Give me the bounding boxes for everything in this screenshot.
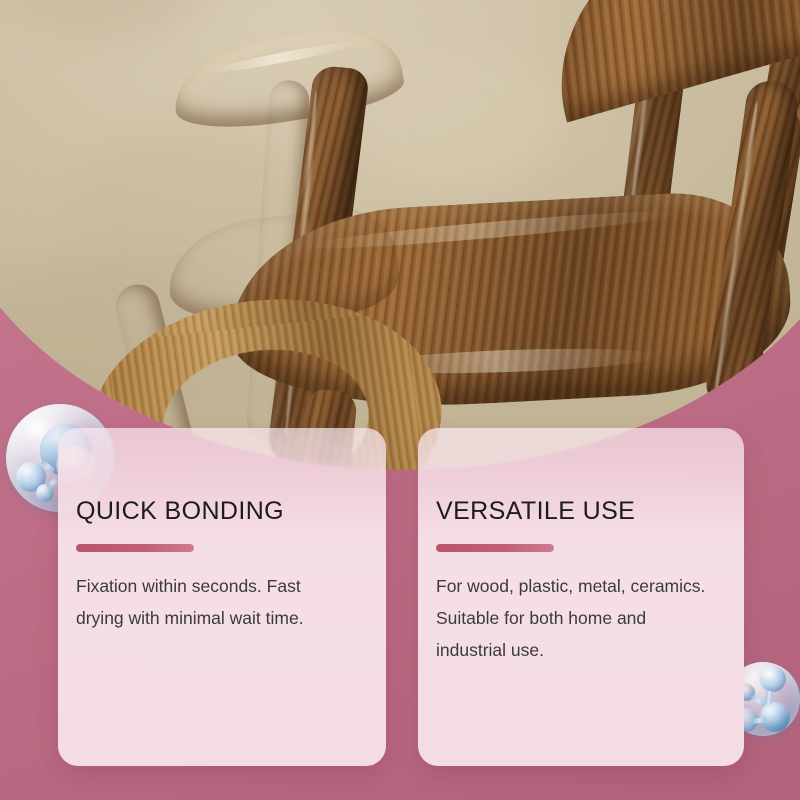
product-feature-banner: QUICK BONDING Fixation within seconds. F…: [0, 0, 800, 800]
feature-card-quick-bonding: QUICK BONDING Fixation within seconds. F…: [58, 428, 386, 766]
card-title-versatile-use: VERSATILE USE: [436, 497, 635, 526]
chair-photo: [0, 0, 800, 470]
accent-bar-quick-bonding: [76, 544, 194, 552]
card-title-quick-bonding: QUICK BONDING: [76, 497, 284, 526]
accent-bar-versatile-use: [436, 544, 554, 552]
hero-photo-mask: [0, 0, 800, 470]
card-body-versatile-use: For wood, plastic, metal, ceramics. Suit…: [436, 570, 718, 666]
card-body-quick-bonding: Fixation within seconds. Fast drying wit…: [76, 570, 348, 634]
feature-card-versatile-use: VERSATILE USE For wood, plastic, metal, …: [418, 428, 744, 766]
chair-illustration: [0, 0, 800, 470]
